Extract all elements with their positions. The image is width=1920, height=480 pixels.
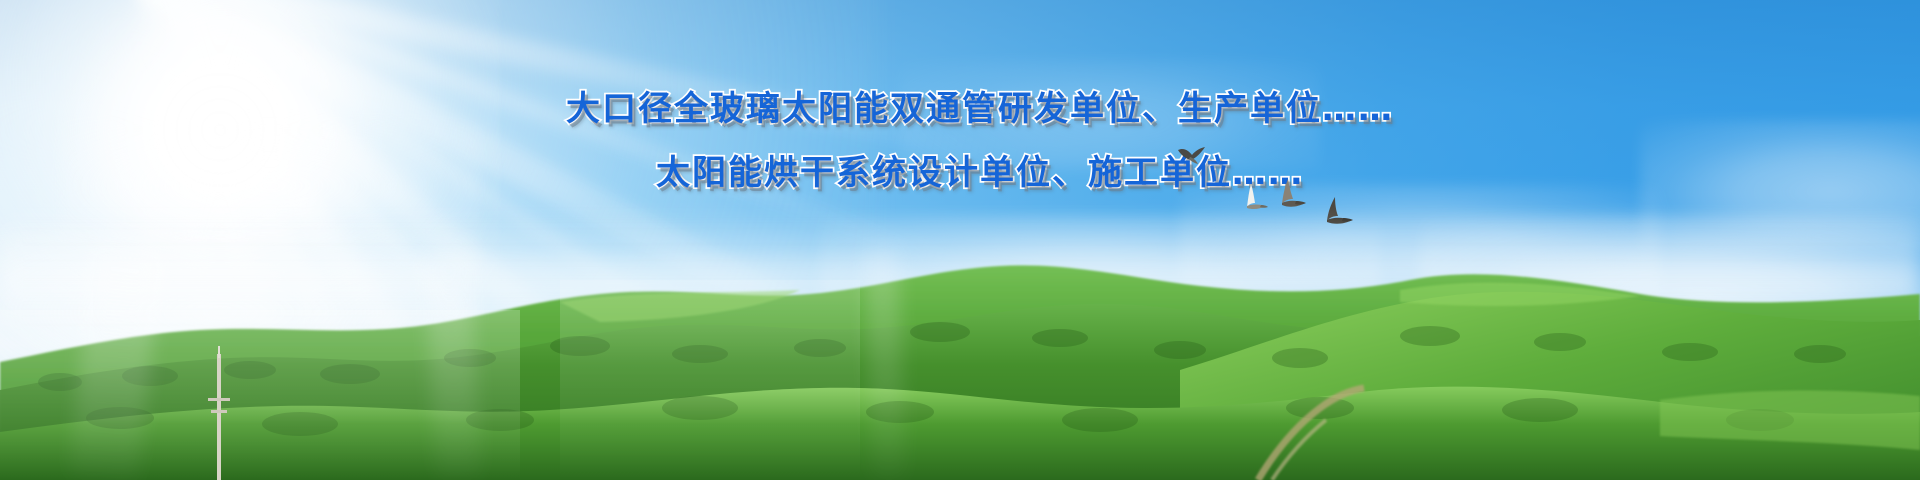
green-hills [0,250,1920,480]
bird-4-icon [1322,196,1354,226]
headline-line-1: 大口径全玻璃太阳能双通管研发单位、生产单位…… [40,92,1920,126]
bird-3-icon [1276,178,1308,210]
bird-1-icon [1176,145,1206,171]
banner-image: 大口径全玻璃太阳能双通管研发单位、生产单位…… 太阳能烘干系统设计单位、施工单位… [0,0,1920,480]
bird-2-icon [1243,183,1269,213]
headline-block: 大口径全玻璃太阳能双通管研发单位、生产单位…… 太阳能烘干系统设计单位、施工单位… [0,92,1920,190]
headline-line-2: 太阳能烘干系统设计单位、施工单位…… [40,156,1920,190]
utility-pole [206,346,232,480]
